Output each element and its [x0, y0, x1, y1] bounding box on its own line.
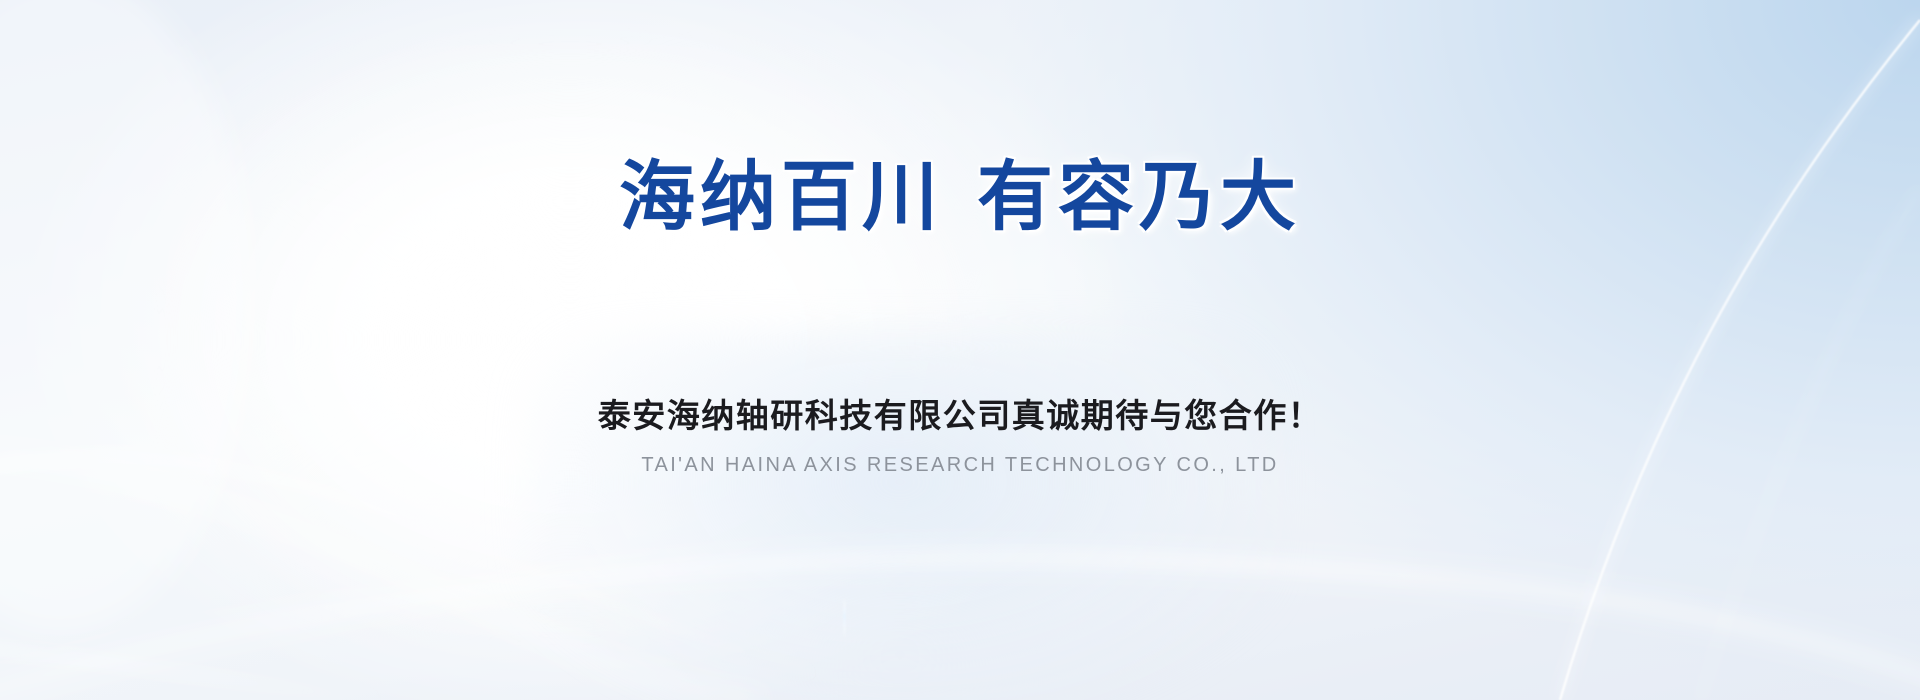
banner-headline: 海纳百川有容乃大 [0, 160, 1920, 236]
top-right-arc-icon [1560, 20, 1920, 700]
diagonal-streak-upper-icon [0, 457, 820, 676]
top-right-arc-secondary-icon [1700, 190, 1920, 700]
headline-phrase-left: 海纳百川 [619, 155, 943, 240]
hero-banner: 海纳百川有容乃大 泰安海纳轴研科技有限公司真诚期待与您合作！ TAI'AN HA… [0, 0, 1920, 700]
vertical-light-streak-icon [843, 598, 846, 638]
headline-phrase-right: 有容乃大 [977, 155, 1301, 240]
left-edge-wash-icon [0, 0, 250, 630]
top-right-arc-glow-icon [1560, 20, 1920, 700]
diagonal-streak-lower-icon [0, 648, 380, 700]
bottom-sweep-arc-glow-icon [0, 558, 1920, 700]
banner-subtitle-chinese: 泰安海纳轴研科技有限公司真诚期待与您合作！ [0, 396, 1920, 436]
center-glow [160, 40, 980, 640]
lower-haze-glow [520, 330, 1280, 700]
background-decoration [0, 0, 1920, 700]
banner-subtitle-english: TAI'AN HAINA AXIS RESEARCH TECHNOLOGY CO… [0, 452, 1920, 478]
bottom-sweep-arc-icon [0, 558, 1920, 700]
diagonal-streak-faint-icon [0, 455, 760, 700]
